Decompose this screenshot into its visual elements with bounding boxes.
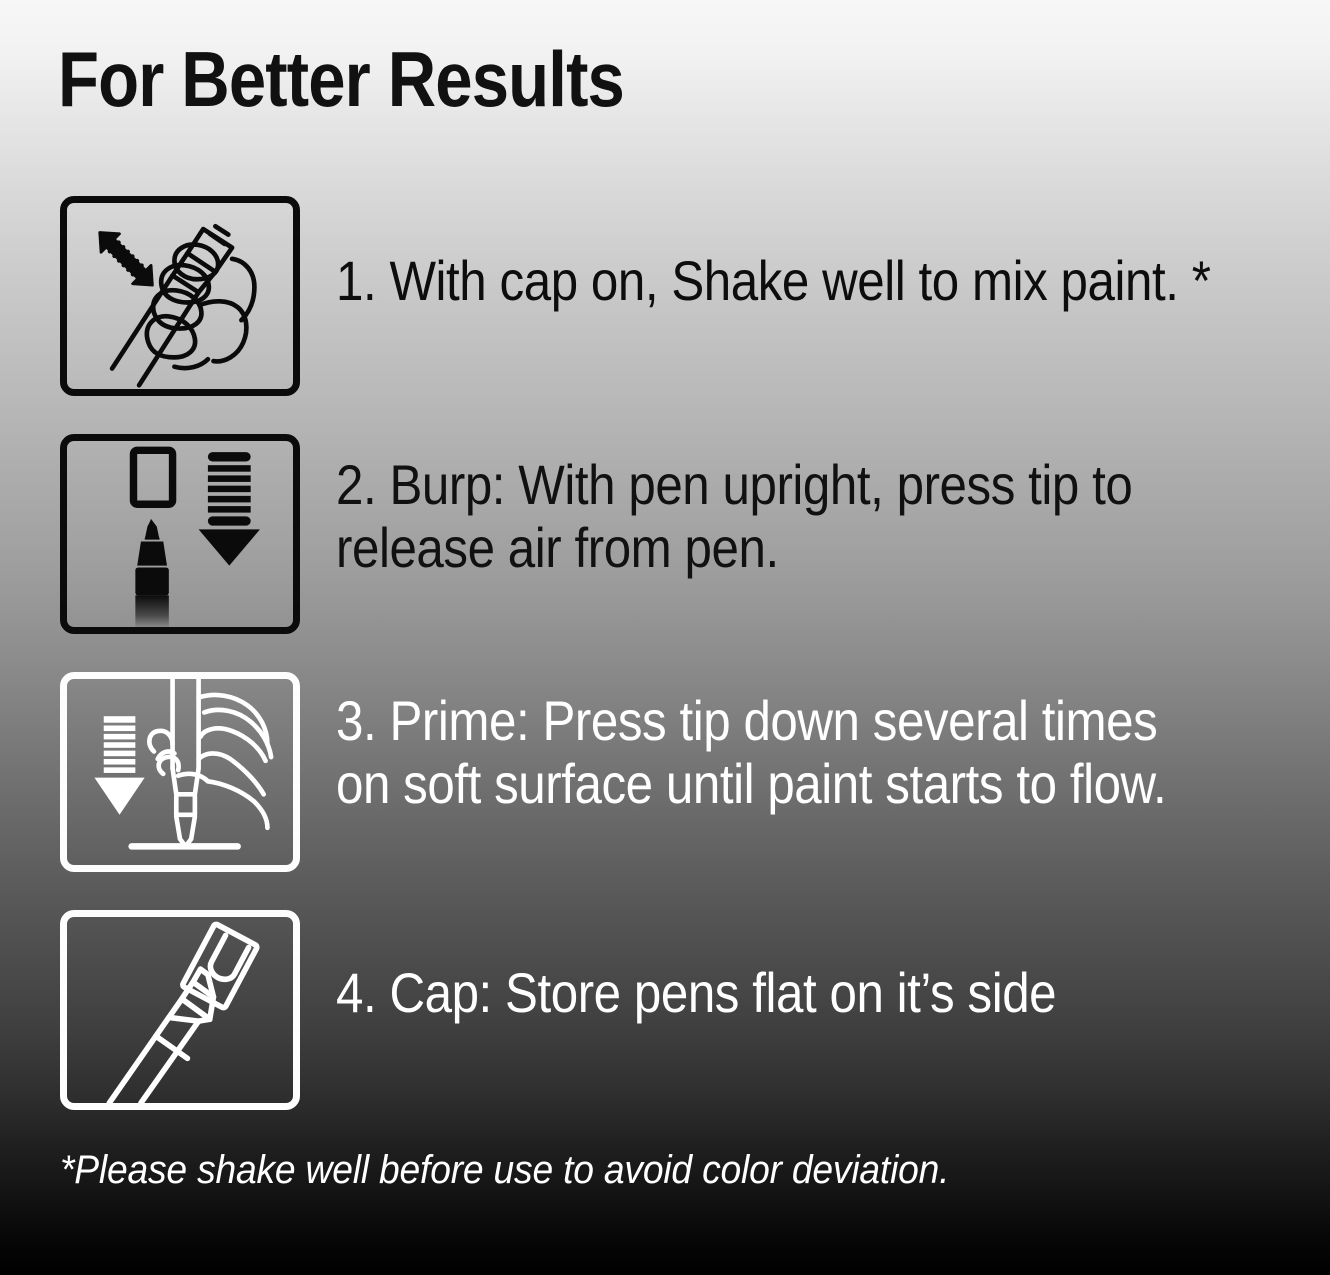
step-row-4: 4. Cap: Store pens flat on it’s side bbox=[0, 910, 1330, 1110]
footnote-text: *Please shake well before use to avoid c… bbox=[60, 1148, 949, 1193]
prime-press-tip-icon bbox=[60, 672, 300, 872]
step-text-1: 1. With cap on, Shake well to mix paint.… bbox=[336, 250, 1211, 313]
page-title: For Better Results bbox=[58, 40, 624, 118]
shake-pen-icon bbox=[60, 196, 300, 396]
step-text-2: 2. Burp: With pen upright, press tip to … bbox=[336, 454, 1211, 579]
instructions-page: For Better Results bbox=[0, 0, 1330, 1275]
step-text-3: 3. Prime: Press tip down several times o… bbox=[336, 690, 1211, 815]
pen-upright-burp-icon bbox=[60, 434, 300, 634]
step-row-2: 2. Burp: With pen upright, press tip to … bbox=[0, 434, 1330, 634]
step-row-1: 1. With cap on, Shake well to mix paint.… bbox=[0, 196, 1330, 396]
step-row-3: 3. Prime: Press tip down several times o… bbox=[0, 672, 1330, 872]
capped-pen-icon bbox=[60, 910, 300, 1110]
step-text-4: 4. Cap: Store pens flat on it’s side bbox=[336, 962, 1211, 1025]
